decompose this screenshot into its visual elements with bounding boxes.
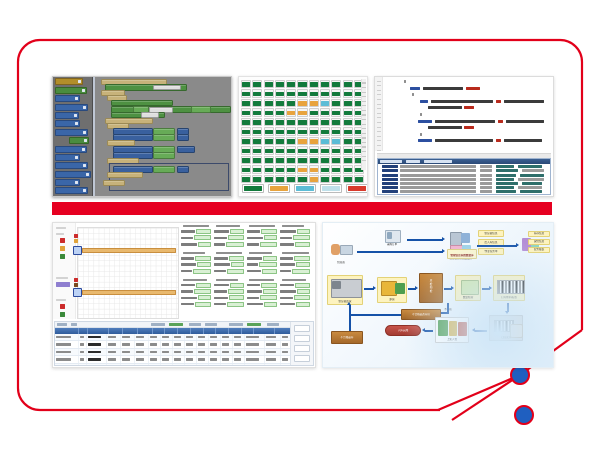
status-card[interactable]: [241, 137, 251, 145]
arrow-head: [505, 311, 509, 314]
status-card[interactable]: [320, 175, 330, 183]
status-card[interactable]: [252, 89, 262, 97]
flow-arrow: [349, 314, 401, 316]
arrow-head: [422, 328, 425, 332]
status-card[interactable]: [286, 99, 296, 107]
status-card[interactable]: [331, 175, 341, 183]
status-card[interactable]: [320, 89, 330, 97]
status-card[interactable]: [241, 146, 251, 154]
code-line: [384, 113, 551, 116]
status-card[interactable]: [320, 156, 330, 164]
palette-block[interactable]: [55, 146, 87, 153]
flow-node-label-print[interactable]: 打印条码标签: [493, 275, 525, 301]
legend-swatch-idle: [294, 184, 316, 193]
status-card[interactable]: [286, 127, 296, 135]
status-card[interactable]: [309, 89, 319, 97]
line-number-gutter: [375, 77, 383, 151]
code-editor-screenshot[interactable]: [374, 76, 554, 197]
flow-arrow: [425, 330, 433, 332]
status-chip: [60, 238, 65, 243]
arrow-head: [489, 286, 492, 290]
log-line: [378, 190, 550, 193]
status-card[interactable]: [343, 118, 353, 126]
status-card[interactable]: [241, 99, 251, 107]
card-column: [214, 225, 245, 308]
block-workspace[interactable]: [95, 77, 231, 196]
status-card[interactable]: [331, 146, 341, 154]
flow-arrow: [437, 312, 449, 314]
flow-arrow: [408, 288, 416, 290]
status-card[interactable]: [286, 165, 296, 173]
flow-note-business-report[interactable]: 业务报表: [528, 247, 550, 253]
node-label: 货位信息: [529, 240, 549, 243]
gantt-marker: [74, 234, 78, 238]
status-card[interactable]: [320, 108, 330, 116]
status-card[interactable]: [252, 175, 262, 183]
status-card[interactable]: [264, 99, 274, 107]
status-card[interactable]: [286, 89, 296, 97]
palette-block[interactable]: [55, 129, 88, 136]
log-line: [378, 165, 550, 168]
status-card[interactable]: [264, 118, 274, 126]
flow-node-supplier[interactable]: 供应商: [327, 241, 355, 265]
status-card[interactable]: [275, 108, 285, 116]
status-card[interactable]: [297, 146, 307, 154]
node-label: 不合格品库: [332, 336, 362, 339]
workspace-block[interactable]: [177, 146, 195, 153]
status-card[interactable]: [320, 118, 330, 126]
status-card[interactable]: [331, 89, 341, 97]
flow-note-stock-info[interactable]: 库存信息: [528, 231, 550, 237]
flow-node-inspection[interactable]: 质检抽检: [419, 273, 443, 303]
node-label: 上架入位: [436, 338, 468, 341]
presentation-slide: 采购订单 供应商 管理信息系统数据库 供应商信息 出入库信息 作业: [0, 0, 600, 450]
node-label: 管理信息系统数据库: [448, 254, 476, 257]
status-card[interactable]: [331, 118, 341, 126]
status-card[interactable]: [252, 80, 262, 88]
flow-note-inout-info[interactable]: 出入库信息: [478, 239, 504, 246]
status-card[interactable]: [252, 165, 262, 173]
flow-node-purchase-order[interactable]: 采购订单: [379, 227, 405, 247]
flow-note-task-sheet[interactable]: 作业任务单: [478, 248, 504, 255]
status-card[interactable]: [331, 80, 341, 88]
red-divider-bar: [52, 202, 552, 215]
code-text-area[interactable]: [384, 80, 551, 150]
status-card[interactable]: [297, 156, 307, 164]
status-card[interactable]: [241, 89, 251, 97]
status-card[interactable]: [264, 156, 274, 164]
side-button[interactable]: [294, 325, 310, 332]
flow-arrow: [507, 303, 509, 312]
gantt-bar[interactable]: [82, 248, 176, 253]
blockly-editor-screenshot[interactable]: [52, 76, 232, 197]
gantt-node[interactable]: [73, 288, 82, 297]
side-button[interactable]: [294, 335, 310, 342]
status-card[interactable]: [343, 137, 353, 145]
status-chip: [60, 246, 65, 251]
status-chip: [56, 282, 70, 287]
card-column: [247, 225, 278, 308]
node-label: 扫描录入: [490, 336, 522, 339]
status-card[interactable]: [275, 80, 285, 88]
node-label: 供应商: [327, 261, 355, 264]
code-line: [384, 106, 551, 109]
workspace-block[interactable]: [153, 152, 175, 159]
arrow-head: [347, 302, 351, 305]
side-button[interactable]: [294, 345, 310, 352]
screenshot-collage: 采购订单 供应商 管理信息系统数据库 供应商信息 出入库信息 作业: [52, 76, 552, 366]
status-card[interactable]: [275, 137, 285, 145]
status-card[interactable]: [297, 108, 307, 116]
status-card[interactable]: [252, 137, 262, 145]
arrow-head: [451, 286, 454, 290]
code-line: [384, 80, 551, 83]
code-line: [384, 126, 551, 129]
palette-block[interactable]: [55, 95, 80, 102]
workspace-field[interactable]: [153, 85, 181, 91]
flow-note-location-info[interactable]: 货位信息: [528, 239, 550, 245]
status-card[interactable]: [297, 127, 307, 135]
status-chip: [60, 312, 65, 317]
palette-block[interactable]: [69, 137, 89, 144]
status-card[interactable]: [297, 175, 307, 183]
status-card[interactable]: [343, 175, 353, 183]
status-card[interactable]: [275, 118, 285, 126]
status-card[interactable]: [297, 165, 307, 173]
flow-node-scan-in[interactable]: 扫描录入: [489, 315, 523, 341]
palette-block[interactable]: [55, 187, 88, 194]
status-card[interactable]: [264, 80, 274, 88]
status-card[interactable]: [343, 108, 353, 116]
status-card[interactable]: [343, 127, 353, 135]
table-row[interactable]: [55, 364, 313, 366]
status-card[interactable]: [241, 127, 251, 135]
flow-node-supplier-delivery[interactable]: 供应商送货: [327, 275, 363, 305]
status-card[interactable]: [275, 165, 285, 173]
flow-node-unloading[interactable]: 卸货: [377, 277, 407, 303]
status-card[interactable]: [343, 156, 353, 164]
block-palette[interactable]: [53, 77, 93, 196]
node-label: 打印条码标签: [494, 296, 524, 299]
flow-note-system-core[interactable]: 管理信息系统数据库: [447, 249, 477, 259]
status-card[interactable]: [286, 175, 296, 183]
log-console-panel[interactable]: [377, 158, 551, 195]
palette-block[interactable]: [55, 171, 91, 178]
flow-node-erp-system[interactable]: 管理信息系统数据库: [447, 231, 475, 261]
status-card[interactable]: [252, 146, 262, 154]
status-card[interactable]: [309, 146, 319, 154]
status-card[interactable]: [343, 80, 353, 88]
legend-swatch-standby: [320, 184, 342, 193]
status-card[interactable]: [309, 118, 319, 126]
code-line: [384, 133, 551, 136]
flow-arrow: [482, 288, 490, 290]
status-card[interactable]: [320, 80, 330, 88]
status-card[interactable]: [309, 80, 319, 88]
node-label: 卸货: [378, 298, 406, 301]
code-line: [384, 120, 551, 123]
flow-node-quantity-check[interactable]: 数量核验: [455, 275, 481, 301]
legend-swatch-fault: [346, 184, 368, 193]
log-line: [378, 178, 550, 181]
table-row[interactable]: [55, 334, 313, 341]
arrow-head: [442, 237, 445, 241]
status-card[interactable]: [309, 108, 319, 116]
node-label: 供应商送货: [328, 300, 362, 303]
status-card[interactable]: [286, 108, 296, 116]
status-card[interactable]: [331, 165, 341, 173]
status-card[interactable]: [343, 165, 353, 173]
flow-arrow: [349, 305, 351, 331]
status-card[interactable]: [343, 99, 353, 107]
flow-node-nonconforming-store[interactable]: 不合格品库: [331, 331, 363, 344]
status-card[interactable]: [343, 89, 353, 97]
workspace-block[interactable]: [191, 106, 211, 112]
status-card[interactable]: [241, 156, 251, 164]
data-table[interactable]: [54, 321, 314, 366]
status-card[interactable]: [264, 137, 274, 145]
log-line: [378, 182, 550, 185]
flow-node-inbound-complete[interactable]: 入库完成: [385, 325, 421, 336]
status-grid-screenshot[interactable]: [238, 76, 368, 197]
status-card[interactable]: [343, 146, 353, 154]
log-line: [378, 169, 550, 172]
grid-scrollbar[interactable]: [361, 79, 366, 170]
status-card[interactable]: [297, 80, 307, 88]
status-card[interactable]: [309, 165, 319, 173]
flow-arrow: [477, 245, 517, 247]
workspace-block[interactable]: [107, 172, 143, 178]
status-card[interactable]: [331, 127, 341, 135]
node-label: 管理信息系统数据库: [447, 257, 475, 260]
palette-block[interactable]: [55, 179, 80, 186]
code-line: [384, 100, 551, 103]
table-row[interactable]: [55, 356, 313, 363]
legend-swatch-normal: [242, 184, 264, 193]
accent-circle-lower: [515, 406, 533, 424]
flow-node-nonconforming-zone[interactable]: 不合格品暂存区: [401, 309, 441, 320]
gantt-marker: [74, 283, 78, 287]
status-card[interactable]: [252, 127, 262, 135]
status-card[interactable]: [297, 89, 307, 97]
status-card[interactable]: [286, 146, 296, 154]
status-card[interactable]: [264, 108, 274, 116]
table-side-buttons[interactable]: [290, 322, 313, 365]
sheet-side-rail[interactable]: [53, 223, 76, 319]
flow-node-shelving[interactable]: 上架入位: [435, 317, 469, 343]
status-card[interactable]: [309, 99, 319, 107]
status-card[interactable]: [320, 127, 330, 135]
status-card[interactable]: [286, 137, 296, 145]
schedule-sheet-screenshot[interactable]: [52, 222, 316, 368]
code-line: [384, 93, 551, 96]
status-card[interactable]: [275, 175, 285, 183]
status-card[interactable]: [286, 156, 296, 164]
status-card[interactable]: [264, 127, 274, 135]
status-card[interactable]: [275, 127, 285, 135]
node-label: 入库完成: [386, 329, 420, 332]
log-line: [378, 186, 550, 189]
node-label: 不合格: [441, 308, 455, 311]
status-card[interactable]: [286, 118, 296, 126]
flow-arrow: [407, 239, 443, 241]
status-card[interactable]: [309, 127, 319, 135]
node-label: 出入库信息: [479, 241, 503, 244]
table-row[interactable]: [55, 341, 313, 348]
status-card[interactable]: [275, 99, 285, 107]
node-label: 不合格品暂存区: [402, 313, 440, 316]
legend-swatch-warning: [268, 184, 290, 193]
frame-tail: [452, 375, 520, 420]
status-card[interactable]: [309, 156, 319, 164]
status-card[interactable]: [241, 108, 251, 116]
status-card[interactable]: [320, 146, 330, 154]
status-card[interactable]: [252, 108, 262, 116]
logistics-flow-screenshot[interactable]: 采购订单 供应商 管理信息系统数据库 供应商信息 出入库信息 作业: [322, 222, 554, 368]
arrow-head: [442, 249, 445, 253]
status-chip: [60, 304, 65, 309]
status-card[interactable]: [264, 175, 274, 183]
status-card[interactable]: [275, 156, 285, 164]
node-label: 供应商信息: [479, 232, 503, 235]
arrow-head: [472, 328, 475, 332]
gantt-node[interactable]: [73, 246, 82, 255]
palette-block[interactable]: [55, 120, 80, 127]
node-label: 库存信息: [529, 232, 549, 235]
status-card[interactable]: [286, 80, 296, 88]
node-label: 采购订单: [379, 243, 405, 246]
card-column: [280, 225, 311, 308]
arrow-head: [415, 286, 418, 290]
flow-arrow: [444, 288, 452, 290]
status-card[interactable]: [275, 89, 285, 97]
status-card[interactable]: [320, 99, 330, 107]
gantt-marker: [74, 239, 78, 243]
status-card[interactable]: [252, 156, 262, 164]
status-card[interactable]: [297, 137, 307, 145]
node-label: 业务报表: [529, 248, 549, 251]
status-card[interactable]: [241, 165, 251, 173]
palette-block[interactable]: [55, 154, 80, 161]
accent-circle-upper: [511, 366, 529, 384]
status-card[interactable]: [241, 175, 251, 183]
status-card[interactable]: [264, 89, 274, 97]
status-card[interactable]: [309, 137, 319, 145]
status-card[interactable]: [297, 118, 307, 126]
status-legend: [242, 184, 368, 193]
gantt-marker: [74, 278, 78, 282]
workspace-block[interactable]: [153, 134, 175, 141]
status-card[interactable]: [331, 99, 341, 107]
status-card[interactable]: [252, 99, 262, 107]
workspace-block[interactable]: [153, 166, 175, 173]
node-label: 作业任务单: [479, 250, 503, 253]
palette-block[interactable]: [55, 87, 87, 94]
status-chip: [60, 254, 65, 259]
log-line: [378, 195, 550, 196]
code-line: [384, 139, 551, 142]
status-card[interactable]: [264, 146, 274, 154]
workspace-block[interactable]: [177, 134, 189, 141]
status-card[interactable]: [264, 165, 274, 173]
flow-note-supplier-info[interactable]: 供应商信息: [478, 230, 504, 237]
side-button[interactable]: [294, 355, 310, 362]
status-card[interactable]: [297, 99, 307, 107]
palette-block[interactable]: [55, 162, 88, 169]
palette-block[interactable]: [55, 196, 85, 197]
status-card[interactable]: [354, 175, 364, 183]
arrow-head: [373, 286, 376, 290]
flow-arrow: [357, 251, 443, 253]
status-card[interactable]: [275, 146, 285, 154]
status-card-grid[interactable]: [241, 80, 364, 183]
gantt-bar[interactable]: [82, 290, 176, 295]
flow-label-reject: 不合格: [441, 306, 455, 311]
arrow-head: [516, 243, 519, 247]
detail-card-columns: [181, 225, 313, 317]
palette-block[interactable]: [55, 112, 79, 119]
flow-arrow: [475, 330, 487, 332]
workspace-block[interactable]: [103, 180, 125, 186]
status-card[interactable]: [331, 108, 341, 116]
palette-block[interactable]: [55, 78, 83, 85]
status-card[interactable]: [241, 118, 251, 126]
table-toolbar[interactable]: [55, 322, 313, 328]
code-line: [384, 87, 551, 90]
node-label: 数量核验: [456, 296, 480, 299]
palette-block[interactable]: [55, 104, 88, 111]
status-card[interactable]: [320, 165, 330, 173]
console-title-bar: [378, 159, 550, 164]
status-card[interactable]: [309, 175, 319, 183]
status-card[interactable]: [241, 80, 251, 88]
flow-arrow: [447, 303, 449, 313]
table-row[interactable]: [55, 349, 313, 356]
status-card[interactable]: [320, 137, 330, 145]
status-card[interactable]: [331, 137, 341, 145]
gantt-chart[interactable]: [77, 227, 179, 319]
workspace-block[interactable]: [177, 166, 189, 173]
status-card[interactable]: [252, 118, 262, 126]
status-card[interactable]: [331, 156, 341, 164]
log-line: [378, 174, 550, 177]
card-column: [181, 225, 212, 308]
